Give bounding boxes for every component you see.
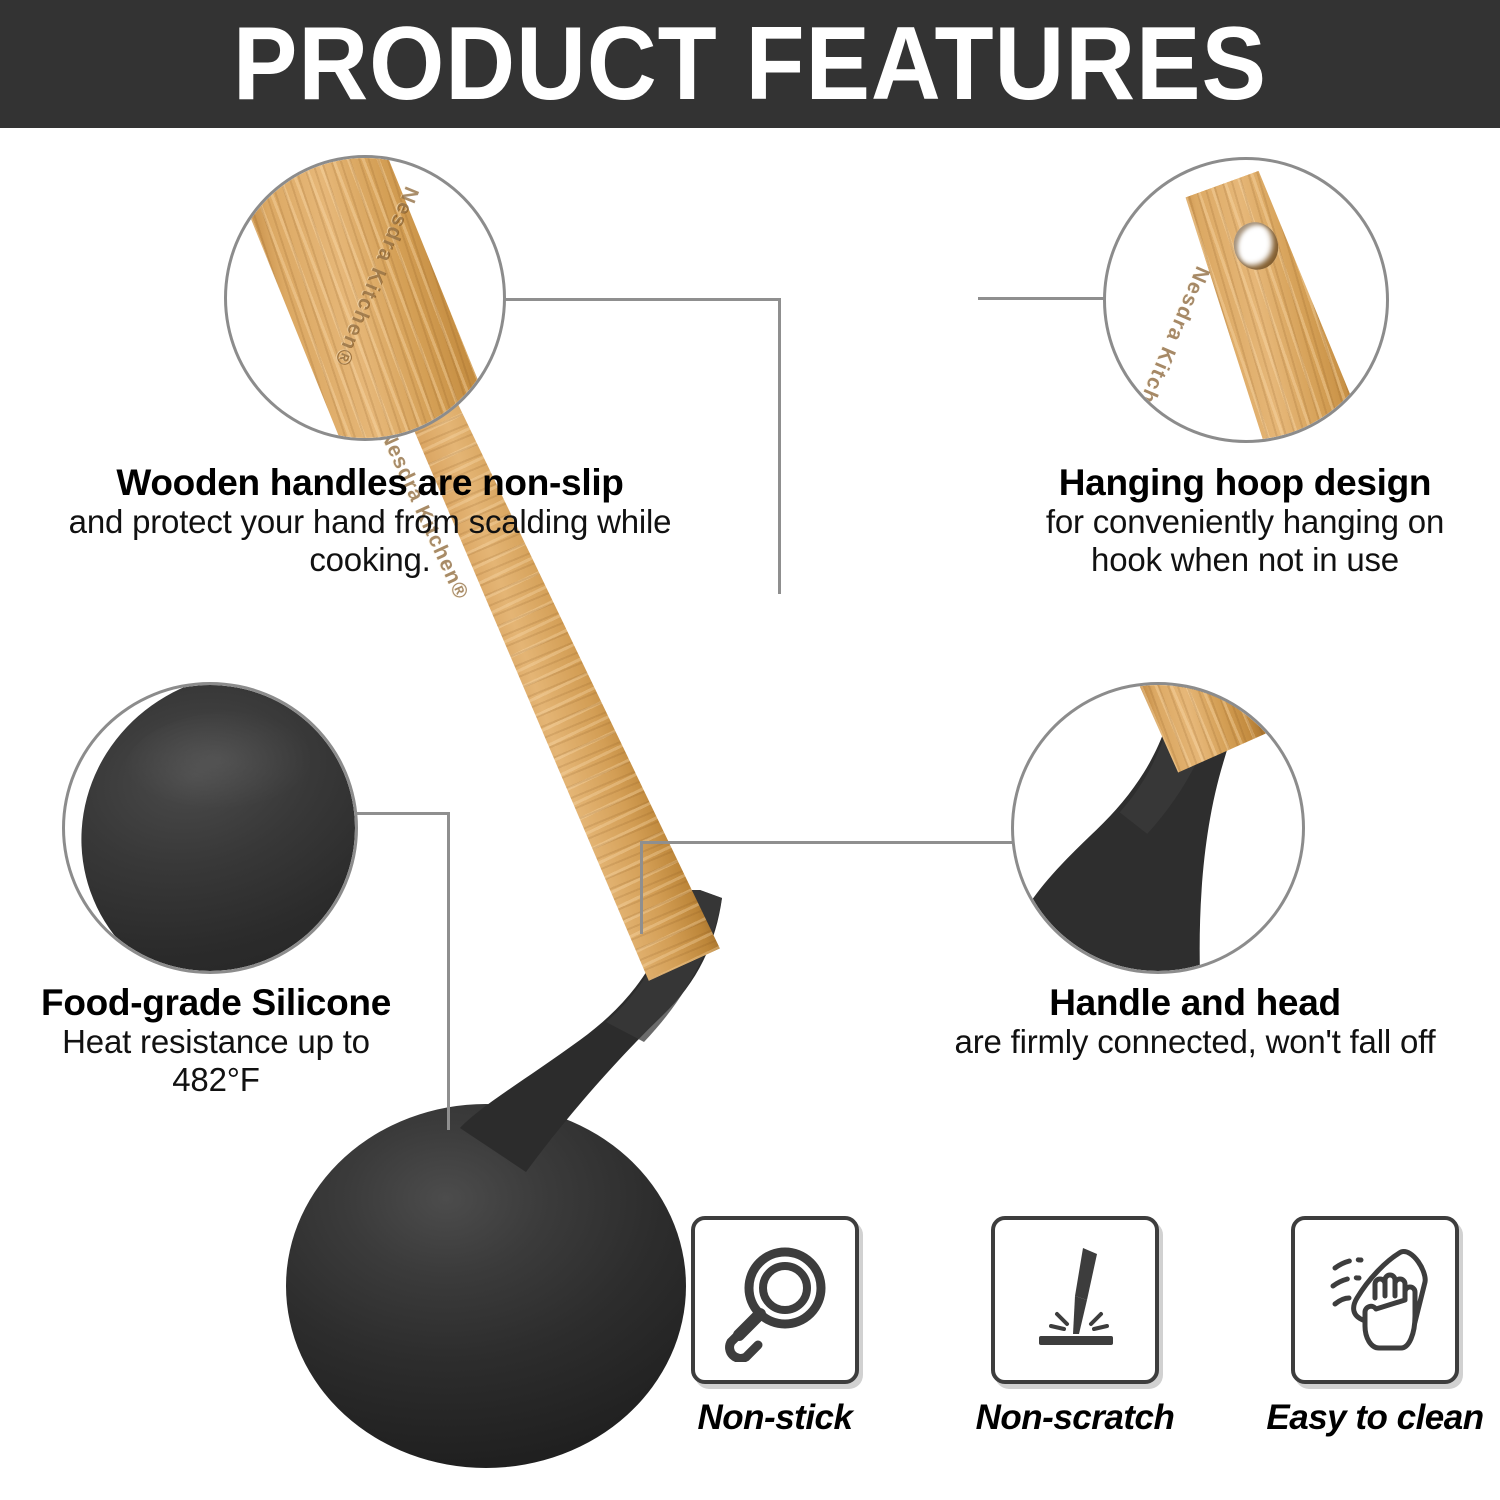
feature-body-wooden-handles: and protect your hand from scalding whil… [40,503,700,578]
badge-label-non-stick: Non-stick [698,1398,853,1438]
zoom-content-wooden-handle: Nesdra Kitchen® [227,158,503,438]
zoom-content-hanging-hoop: Nesdra Kitchen® [1106,160,1386,440]
badge-non-stick: Non-stick [680,1216,870,1438]
leader-line-wooden-handles-h [503,298,781,301]
zoom-content-silicone-bowl [65,685,355,971]
product-feature-stage: Nesdra Kitchen® Nesdra Kitchen® Nesdra K… [0,0,1500,1500]
feature-body-food-grade-silicone: Heat resistance up to 482°F [16,1023,416,1098]
leader-line-silicone-h [355,812,450,815]
feature-text-handle-and-head: Handle and head are firmly connected, wo… [945,982,1445,1061]
zoom-circle-handle-and-head [1011,682,1305,974]
leader-line-handle-head-h [640,841,1015,844]
zoom-content-joint [1014,685,1302,971]
feature-title-handle-and-head: Handle and head [945,982,1445,1023]
frying-pan-icon [713,1238,837,1362]
badge-box-easy-to-clean [1291,1216,1459,1384]
leader-line-hanging-hoop-h [978,297,1104,300]
hand-wiping-cloth-icon [1313,1238,1437,1362]
knife-scratch-icon [1013,1238,1137,1362]
leader-line-silicone-v [447,812,450,1130]
feature-text-wooden-handles: Wooden handles are non-slip and protect … [40,462,700,579]
feature-text-food-grade-silicone: Food-grade Silicone Heat resistance up t… [16,982,416,1099]
badge-label-non-scratch: Non-scratch [976,1398,1175,1438]
zoom-circle-wooden-handles: Nesdra Kitchen® [224,155,506,441]
feature-text-hanging-hoop: Hanging hoop design for conveniently han… [1010,462,1480,579]
leader-line-handle-head-v [640,841,643,934]
feature-badge-row: Non-stick Non-scratch [680,1216,1470,1461]
zoom-circle-hanging-hoop: Nesdra Kitchen® [1103,157,1389,443]
badge-easy-to-clean: Easy to clean [1280,1216,1470,1438]
feature-title-hanging-hoop: Hanging hoop design [1010,462,1480,503]
badge-label-easy-to-clean: Easy to clean [1266,1398,1483,1438]
zoom-silicone-highlight [125,711,355,831]
badge-non-scratch: Non-scratch [980,1216,1170,1438]
badge-box-non-scratch [991,1216,1159,1384]
feature-body-hanging-hoop: for conveniently hanging on hook when no… [1010,503,1480,578]
feature-title-wooden-handles: Wooden handles are non-slip [40,462,700,503]
feature-body-handle-and-head: are firmly connected, won't fall off [945,1023,1445,1061]
leader-line-wooden-handles-v [778,298,781,594]
feature-title-food-grade-silicone: Food-grade Silicone [16,982,416,1023]
badge-box-non-stick [691,1216,859,1384]
zoom-circle-food-grade-silicone [62,682,358,974]
